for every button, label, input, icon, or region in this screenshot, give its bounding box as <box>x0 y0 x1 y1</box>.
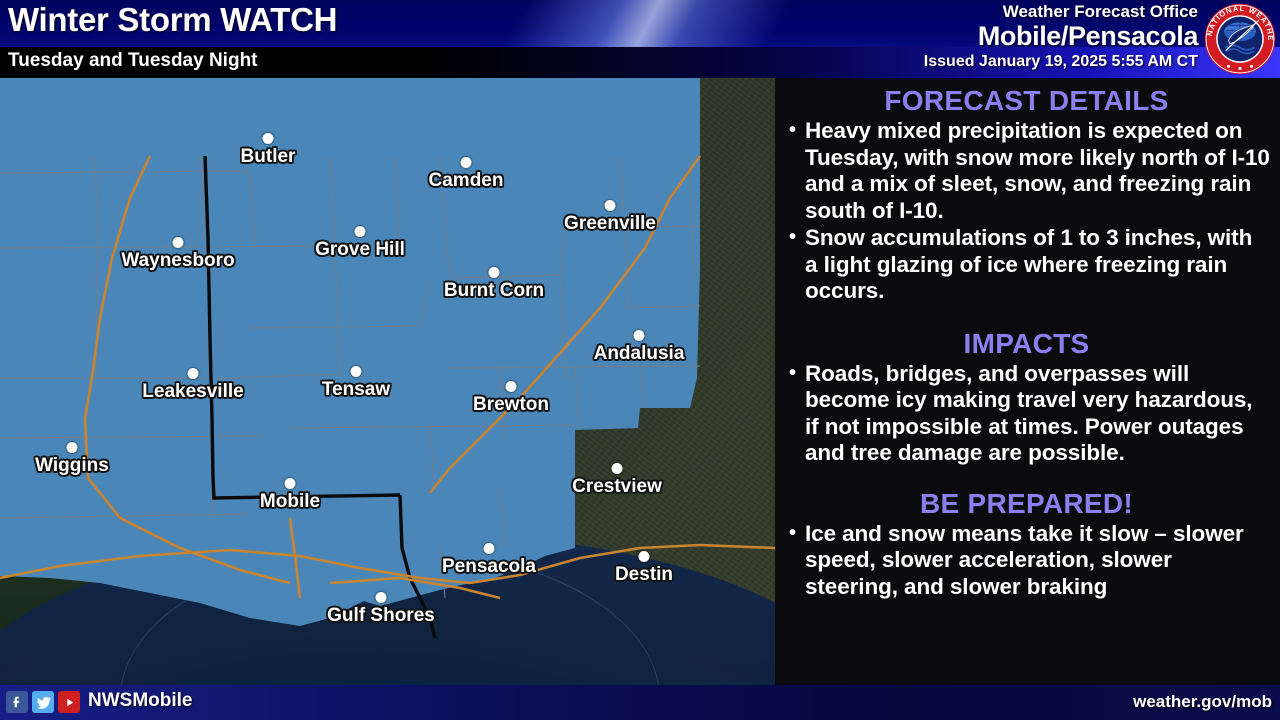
header-banner: Winter Storm WATCH Tuesday and Tuesday N… <box>0 0 1280 78</box>
weather-graphic: Winter Storm WATCH Tuesday and Tuesday N… <box>0 0 1280 720</box>
city-dot-icon <box>285 478 296 489</box>
city-label: Andalusia <box>594 343 685 365</box>
city-label: Crestview <box>572 476 662 498</box>
section-be-prepared: BE PREPARED! Ice and snow means take it … <box>783 487 1270 601</box>
city-label: Camden <box>429 170 504 192</box>
city-label: Brewton <box>473 394 549 416</box>
city-dot-icon <box>634 330 645 341</box>
city-label: Destin <box>615 564 673 586</box>
office-label: Weather Forecast Office <box>924 2 1198 22</box>
city-dot-icon <box>173 237 184 248</box>
city-label: Butler <box>241 146 296 168</box>
city-label: Waynesboro <box>121 250 234 272</box>
footer-bar: NWSMobile weather.gov/mob <box>0 685 1280 720</box>
issued-time: Issued January 19, 2025 5:55 AM CT <box>924 52 1198 72</box>
social-handle[interactable]: NWSMobile <box>88 690 193 712</box>
city-dot-icon <box>67 442 78 453</box>
alert-period: Tuesday and Tuesday Night <box>8 50 258 72</box>
be-prepared-bullets: Ice and snow means take it slow – slower… <box>783 521 1270 601</box>
section-heading-forecast-details: FORECAST DETAILS <box>783 84 1270 117</box>
youtube-icon[interactable] <box>58 691 80 713</box>
bullet: Roads, bridges, and overpasses will beco… <box>783 361 1270 467</box>
forecast-text-panel: FORECAST DETAILS Heavy mixed precipitati… <box>775 78 1280 685</box>
city-dot-icon <box>351 366 362 377</box>
twitter-icon[interactable] <box>32 691 54 713</box>
bullet: Snow accumulations of 1 to 3 inches, wit… <box>783 225 1270 305</box>
bullet: Ice and snow means take it slow – slower… <box>783 521 1270 601</box>
city-dot-icon <box>484 543 495 554</box>
section-heading-be-prepared: BE PREPARED! <box>783 487 1270 520</box>
city-dot-icon <box>263 133 274 144</box>
section-forecast-details: FORECAST DETAILS Heavy mixed precipitati… <box>783 84 1270 305</box>
city-dot-icon <box>612 463 623 474</box>
footer-url[interactable]: weather.gov/mob <box>1133 692 1272 712</box>
city-label: Tensaw <box>322 379 390 401</box>
city-label: Greenville <box>564 213 656 235</box>
city-dot-icon <box>188 368 199 379</box>
city-dot-icon <box>489 267 500 278</box>
nws-seal-logo: NATIONAL WEATHER SERVICE <box>1204 3 1276 75</box>
city-label: Burnt Corn <box>444 280 544 302</box>
city-label: Mobile <box>260 491 320 513</box>
city-dot-icon <box>639 551 650 562</box>
bullet: Heavy mixed precipitation is expected on… <box>783 118 1270 224</box>
impacts-bullets: Roads, bridges, and overpasses will beco… <box>783 361 1270 467</box>
forecast-details-bullets: Heavy mixed precipitation is expected on… <box>783 118 1270 305</box>
city-dot-icon <box>376 592 387 603</box>
hazard-map[interactable]: ButlerCamdenGreenvilleWaynesboroGrove Hi… <box>0 78 775 685</box>
city-label: Gulf Shores <box>327 605 435 627</box>
city-dot-icon <box>461 157 472 168</box>
page-title: Winter Storm WATCH <box>8 1 337 39</box>
city-label: Wiggins <box>35 455 109 477</box>
city-label: Pensacola <box>442 556 536 578</box>
office-info: Weather Forecast Office Mobile/Pensacola… <box>924 2 1198 72</box>
city-dot-icon <box>506 381 517 392</box>
city-label: Leakesville <box>142 381 243 403</box>
section-impacts: IMPACTS Roads, bridges, and overpasses w… <box>783 327 1270 467</box>
office-name: Mobile/Pensacola <box>924 22 1198 51</box>
city-label: Grove Hill <box>315 239 405 261</box>
city-dot-icon <box>605 200 616 211</box>
city-dot-icon <box>355 226 366 237</box>
section-heading-impacts: IMPACTS <box>783 327 1270 360</box>
facebook-icon[interactable] <box>6 691 28 713</box>
